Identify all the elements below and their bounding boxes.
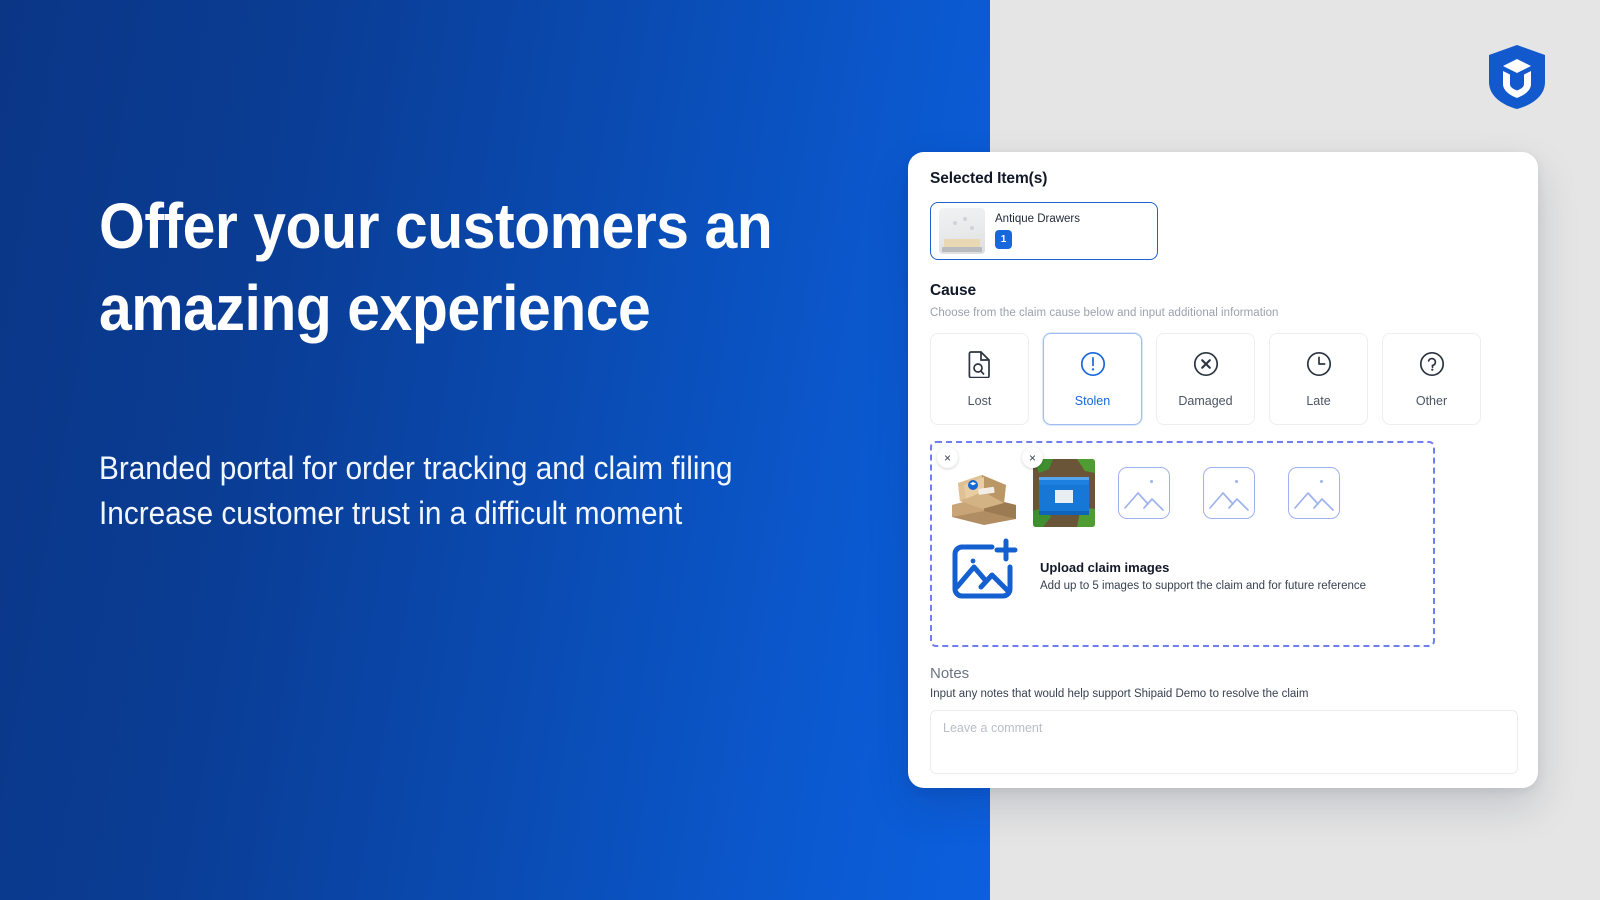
cause-option-other[interactable]: Other <box>1382 333 1481 425</box>
remove-image-icon[interactable]: × <box>1022 447 1043 468</box>
hero-subtitle-line-2: Increase customer trust in a difficult m… <box>99 491 834 536</box>
cause-title: Cause <box>930 282 1516 300</box>
uploaded-images-row: × <box>948 457 1433 527</box>
claim-images-dropzone[interactable]: × <box>930 441 1435 647</box>
hero-subtitle: Branded portal for order tracking and cl… <box>99 446 834 537</box>
cause-option-label: Stolen <box>1075 394 1110 408</box>
notes-input[interactable] <box>930 710 1518 774</box>
cause-option-label: Lost <box>968 394 992 408</box>
damaged-package-photo[interactable]: × <box>948 457 1023 527</box>
notes-title: Notes <box>930 665 1516 682</box>
add-image-icon <box>948 537 1024 610</box>
page-root: Offer your customers an amazing experien… <box>0 0 1600 900</box>
notes-section: Notes Input any notes that would help su… <box>930 665 1516 779</box>
hero-panel: Offer your customers an amazing experien… <box>0 0 990 900</box>
remove-image-icon[interactable]: × <box>937 447 958 468</box>
cause-option-label: Damaged <box>1178 394 1232 408</box>
selected-item-quantity-badge: 1 <box>995 230 1012 249</box>
selected-item-name: Antique Drawers <box>995 213 1080 225</box>
clock-icon <box>1305 350 1333 383</box>
cause-option-label: Late <box>1306 394 1330 408</box>
cause-option-late[interactable]: Late <box>1269 333 1368 425</box>
antique-drawers-thumbnail <box>939 208 985 254</box>
upload-cta[interactable]: Upload claim images Add up to 5 images t… <box>948 537 1433 610</box>
selected-item-card[interactable]: Antique Drawers 1 <box>930 202 1158 260</box>
notes-hint: Input any notes that would help support … <box>930 688 1516 700</box>
cause-option-label: Other <box>1416 394 1447 408</box>
cause-option-damaged[interactable]: Damaged <box>1156 333 1255 425</box>
image-placeholder-3[interactable] <box>1288 457 1363 527</box>
question-circle-icon <box>1418 350 1446 383</box>
hero-headline: Offer your customers an amazing experien… <box>99 186 798 350</box>
image-placeholder-1[interactable] <box>1118 457 1193 527</box>
cause-option-lost[interactable]: Lost <box>930 333 1029 425</box>
cause-options-row: Lost Stolen <box>930 333 1516 425</box>
exclamation-circle-icon <box>1079 350 1107 383</box>
upload-cta-title: Upload claim images <box>1040 560 1366 575</box>
document-search-icon <box>967 350 993 383</box>
hero-subtitle-line-1: Branded portal for order tracking and cl… <box>99 446 834 491</box>
shipaid-shield-logo <box>1486 44 1548 110</box>
blue-box-on-ground-photo[interactable]: × <box>1033 457 1108 527</box>
cause-option-stolen[interactable]: Stolen <box>1043 333 1142 425</box>
x-circle-icon <box>1192 350 1220 383</box>
image-placeholder-2[interactable] <box>1203 457 1278 527</box>
cause-hint: Choose from the claim cause below and in… <box>930 307 1516 319</box>
selected-items-title: Selected Item(s) <box>930 170 1516 188</box>
cause-section: Cause Choose from the claim cause below … <box>930 282 1516 425</box>
upload-cta-subtitle: Add up to 5 images to support the claim … <box>1040 580 1366 592</box>
claim-form-card: Selected Item(s) Antique Drawers 1 Cause… <box>908 152 1538 788</box>
